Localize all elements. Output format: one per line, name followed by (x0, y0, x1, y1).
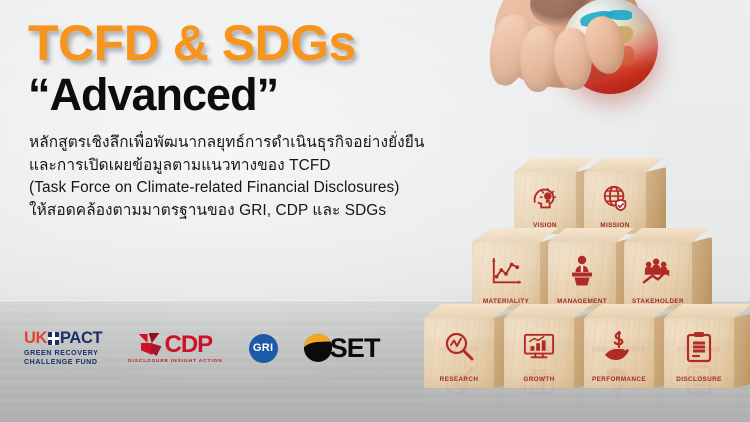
wooden-block-pyramid: VISION MISSION (410, 388, 750, 422)
block-research: RESEARCH (424, 318, 494, 388)
page-title: TCFD & SDGs (28, 18, 496, 69)
block-label: MATERIALITY (472, 298, 540, 305)
reflection-block-stakeholder: STAKEHOLDER (624, 418, 692, 422)
description-line-3: (Task Force on Climate-related Financial… (29, 177, 496, 199)
block-vision: VISION (514, 172, 576, 234)
block-label: MISSION (584, 222, 646, 229)
set-mark-icon (304, 334, 332, 362)
gri-wordmark: GRI (253, 342, 273, 354)
magnifier-chart-icon (424, 328, 494, 367)
hand-dollar-icon (584, 328, 654, 367)
ukpact-tagline-2: CHALLENGE FUND (24, 358, 102, 367)
block-disclosure: DISCLOSURE (664, 318, 734, 388)
headline-group: TCFD & SDGs “Advanced” หลักสูตรเชิงลึกเพ… (26, 18, 496, 222)
logo-gri: GRI (249, 334, 278, 363)
globe-shield-icon (584, 181, 646, 216)
logo-ukpact: UK PACT GREEN RECOVERY CHALLENGE FUND (24, 330, 102, 367)
sponsor-logo-strip: UK PACT GREEN RECOVERY CHALLENGE FUND CD… (24, 330, 380, 367)
reflection-block-materiality: MATERIALITY (472, 418, 540, 422)
block-mission: MISSION (584, 172, 646, 234)
block-label: DISCLOSURE (664, 376, 734, 383)
description-line-1: หลักสูตรเชิงลึกเพื่อพัฒนากลยุทธ์การดำเนิ… (29, 132, 496, 154)
poster-canvas: VISION MISSION (0, 0, 750, 422)
description-line-4: ให้สอดคล้องตามมาตรฐานของ GRI, CDP และ SD… (29, 200, 496, 222)
ukpact-pact-text: PACT (60, 330, 102, 347)
people-arrow-icon (624, 252, 692, 290)
block-materiality: MATERIALITY (472, 242, 540, 310)
cdp-mark-icon (139, 333, 163, 357)
block-label: MANAGEMENT (548, 298, 616, 305)
cdp-wordmark: CDP (165, 333, 213, 357)
speaker-podium-icon (548, 252, 616, 290)
block-growth: GROWTH (504, 318, 574, 388)
description-block: หลักสูตรเชิงลึกเพื่อพัฒนากลยุทธ์การดำเนิ… (29, 132, 496, 222)
block-label: VISION (514, 222, 576, 229)
description-line-2: และการเปิดเผยข้อมูลตามแนวทางของ TCFD (29, 155, 496, 177)
union-jack-icon (48, 332, 59, 345)
ukpact-tagline-1: GREEN RECOVERY (24, 349, 102, 358)
page-subtitle: “Advanced” (28, 71, 496, 118)
block-label: PERFORMANCE (584, 376, 654, 383)
block-label: GROWTH (504, 376, 574, 383)
block-label: RESEARCH (424, 376, 494, 383)
block-management: MANAGEMENT (548, 242, 616, 310)
logo-set: SET (304, 334, 380, 362)
ukpact-uk-text: UK (24, 330, 47, 347)
block-stakeholder: STAKEHOLDER (624, 242, 692, 310)
cdp-tagline: DISCLOSURE INSIGHT ACTION (128, 359, 222, 364)
monitor-bar-chart-icon (504, 328, 574, 367)
set-wordmark: SET (330, 335, 380, 362)
reflection-block-management: MANAGEMENT (548, 418, 616, 422)
line-chart-icon (472, 252, 540, 290)
head-lightbulb-icon (514, 181, 576, 216)
logo-cdp: CDP DISCLOSURE INSIGHT ACTION (128, 333, 222, 364)
clipboard-document-icon (664, 328, 734, 367)
block-performance: PERFORMANCE (584, 318, 654, 388)
block-label: STAKEHOLDER (624, 298, 692, 305)
